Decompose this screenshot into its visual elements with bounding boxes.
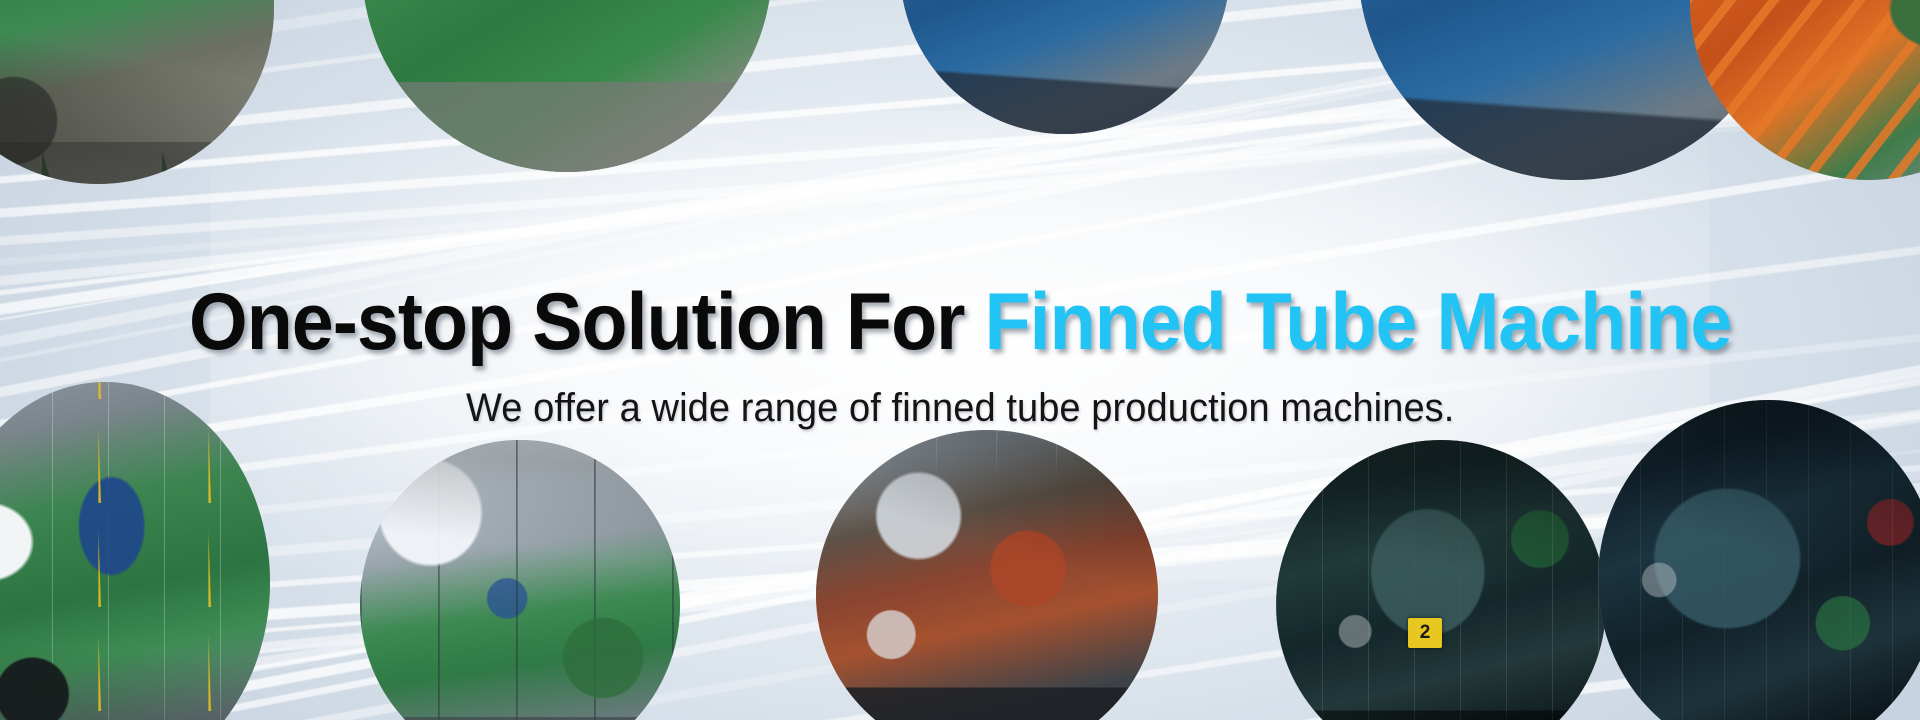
hero-banner: 2 One-stop Solution For Finned Tube Mach…	[0, 0, 1920, 720]
headline-accent: Finned Tube Machine	[984, 277, 1731, 367]
headline-lead: One-stop Solution For	[189, 277, 985, 367]
page-subtitle: We offer a wide range of finned tube pro…	[466, 386, 1454, 431]
hero-text-block: One-stop Solution For Finned Tube Machin…	[0, 0, 1920, 720]
page-title: One-stop Solution For Finned Tube Machin…	[189, 281, 1731, 364]
